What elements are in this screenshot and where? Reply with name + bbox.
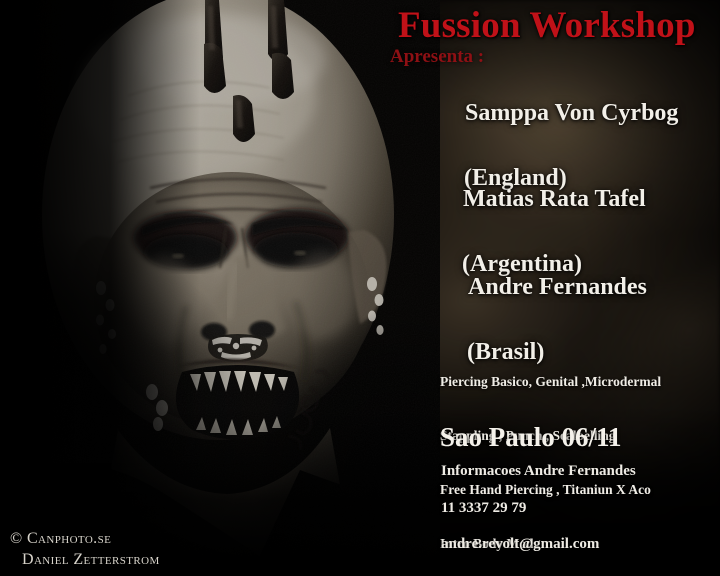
event-poster: Fussion Workshop Apresenta : Samppa Von … (0, 0, 720, 576)
photographer-watermark: © Canphoto.se Daniel Zetterstrom (10, 528, 160, 570)
event-contact-person: Informacoes Andre Fernandes (441, 463, 636, 480)
event-email: andre.revolt@gmail.com (441, 536, 599, 553)
service-line: Free Hand Piercing , Titaniun X Aco (440, 481, 661, 499)
service-line: Piercing Basico, Genital ,Microdermal (440, 373, 661, 391)
event-city-date: Sao Paulo 06/11 (440, 422, 622, 453)
artist-name: Andre Fernandes (468, 274, 647, 301)
poster-title: Fussion Workshop (398, 4, 696, 47)
event-phone: 11 3337 29 79 (441, 500, 526, 517)
watermark-line-1: © Canphoto.se (10, 528, 160, 549)
watermark-line-2: Daniel Zetterstrom (22, 549, 160, 570)
artist-name: Samppa Von Cyrbog (465, 100, 678, 127)
artist-name: Matias Rata Tafel (463, 186, 646, 213)
